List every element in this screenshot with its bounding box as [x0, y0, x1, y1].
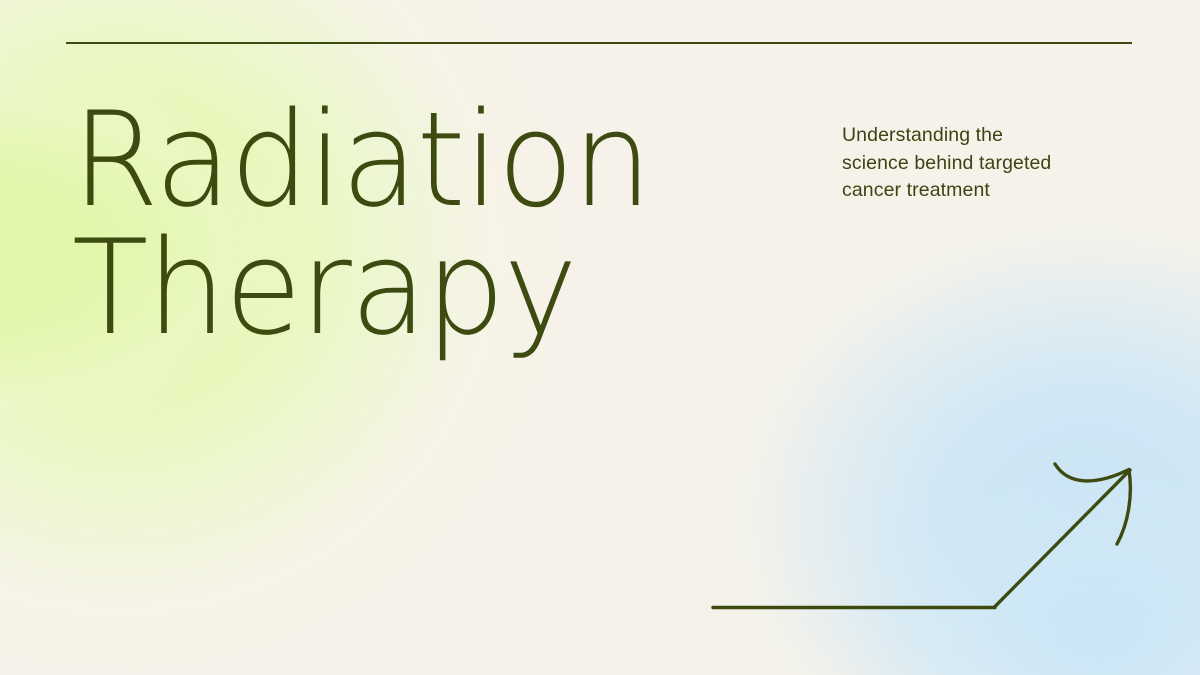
arrow-barb-left	[1055, 464, 1129, 481]
upward-trend-arrow-icon	[690, 448, 1160, 633]
arrow-shaft-diagonal	[994, 470, 1130, 608]
page-title: Radiation Therapy	[72, 96, 760, 353]
presentation-slide: Radiation Therapy Understanding the scie…	[0, 0, 1200, 675]
top-divider-rule	[66, 42, 1132, 44]
slide-subtitle: Understanding the science behind targete…	[842, 122, 1142, 205]
